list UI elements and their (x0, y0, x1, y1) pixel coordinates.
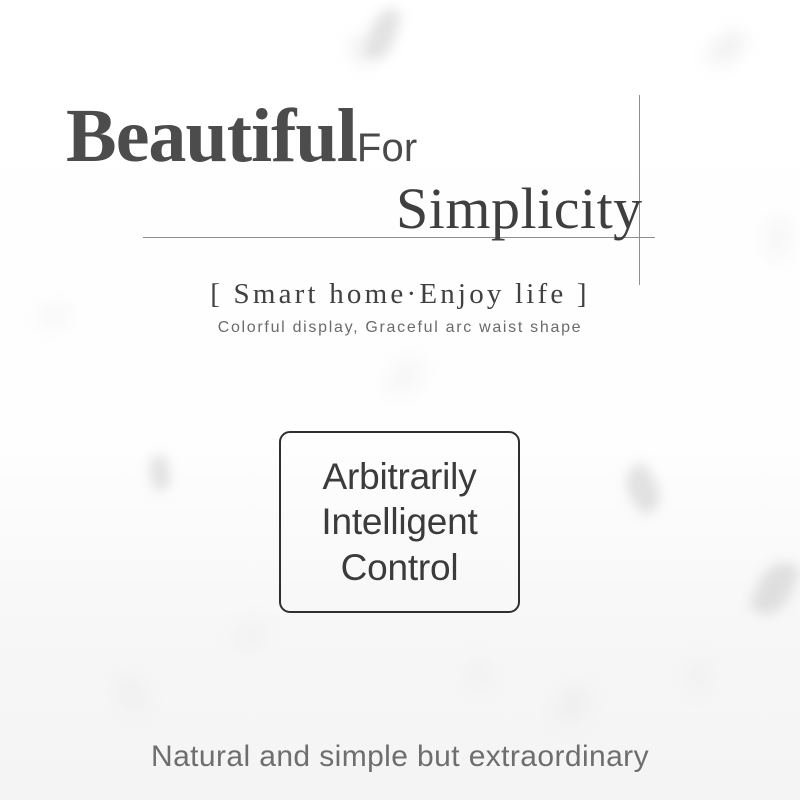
feature-line-3: Control (341, 545, 459, 590)
petal-icon (383, 352, 427, 401)
petal-icon (706, 26, 749, 71)
headline-primary-word: Beautiful (66, 94, 357, 178)
petal-icon (749, 556, 800, 621)
petal-icon (688, 659, 710, 691)
tagline-text: Colorful display, Graceful arc waist sha… (0, 319, 800, 337)
petal-icon (618, 462, 669, 517)
headline-group: BeautifulFor Simplicity (66, 98, 666, 238)
petal-icon (111, 673, 151, 715)
petal-icon (464, 657, 493, 690)
subheading-group: [ Smart home·Enjoy life ] Colorful displ… (0, 278, 800, 337)
petal-icon (145, 454, 175, 493)
petal-icon (762, 214, 793, 261)
headline-connector-word: For (357, 126, 418, 170)
headline-line-2: Simplicity (66, 180, 666, 238)
feature-line-1: Arbitrarily (322, 454, 476, 499)
petal-icon (347, 32, 376, 67)
headline-line-1: BeautifulFor (66, 98, 666, 174)
headline-secondary-word: Simplicity (396, 176, 643, 241)
petal-icon (233, 617, 267, 653)
bracketed-slogan: [ Smart home·Enjoy life ] (0, 278, 800, 311)
petal-icon (555, 681, 591, 727)
footer-slogan: Natural and simple but extraordinary (0, 740, 800, 774)
promo-banner: BeautifulFor Simplicity [ Smart home·Enj… (0, 0, 800, 800)
petal-icon (364, 6, 402, 63)
feature-line-2: Intelligent (321, 499, 477, 544)
feature-callout-box: Arbitrarily Intelligent Control (279, 431, 520, 613)
